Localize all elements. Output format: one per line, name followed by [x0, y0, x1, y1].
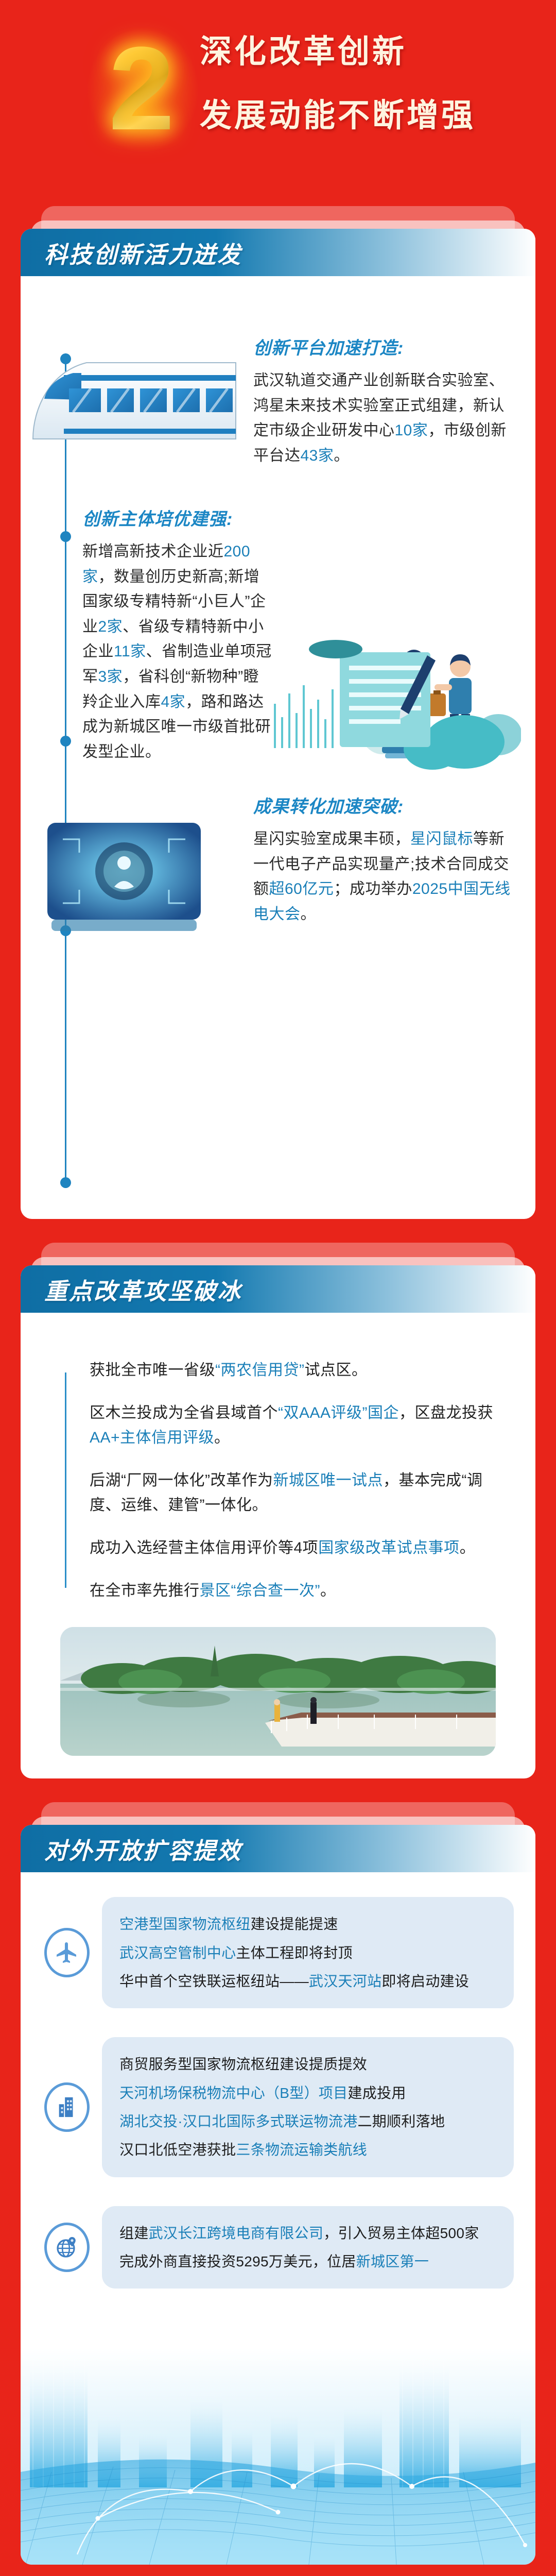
- body-text: 后湖“厂网一体化”改革作为: [90, 1472, 273, 1489]
- card-line: 天河机场保税物流中心（B型）项目建成投用: [119, 2081, 496, 2105]
- body-text: 商贸服务型国家物流枢纽建设提质提效: [119, 2056, 367, 2072]
- section-panel-key-reform: 重点改革攻坚破冰 获批全市唯一省级“两农信用贷”试点区。 区木兰投成为全省县域首…: [21, 1265, 535, 1778]
- card-line: 完成外商直接投资5295万美元，位居新城区第一: [119, 2250, 496, 2273]
- open-up-card: 空港型国家物流枢纽建设提能提速 武汉高空管制中心主体工程即将封顶 华中首个空铁联…: [42, 1897, 514, 2008]
- body-text: 二期顺利落地: [357, 2113, 445, 2129]
- scenic-lake-photo: [60, 1627, 496, 1756]
- hero-banner: 2 深化改革创新 发展动能不断增强: [0, 0, 556, 206]
- list-item-text: 后湖“厂网一体化”改革作为新城区唯一试点，基本完成“调度、运维、建管”一体化。: [90, 1468, 511, 1518]
- highlight-text: 星闪鼠标: [410, 831, 473, 848]
- section-body-key-reform: 获批全市唯一省级“两农信用贷”试点区。 区木兰投成为全省县域首个“双AAA评级”…: [21, 1358, 535, 1778]
- block-body: 新增高新技术企业近200家，数量创历史新高;新增国家级专精特新“小巨人”企业2家…: [82, 539, 273, 765]
- open-up-card: 商贸服务型国家物流枢纽建设提质提效 天河机场保税物流中心（B型）项目建成投用 湖…: [42, 2037, 514, 2177]
- body-text: 华中首个空铁联运枢纽站——: [119, 1973, 309, 1989]
- card-text-box: 组建武汉长江跨境电商有限公司，引入贸易主体超500家 完成外商直接投资5295万…: [102, 2206, 514, 2289]
- block-body: 武汉轨道交通产业创新联合实验室、鸿星未来技术实验室正式组建，新认定市级企业研发中…: [253, 368, 511, 468]
- highlight-text: 11家: [114, 643, 146, 660]
- highlight-text: 三条物流运输类航线: [236, 2142, 367, 2158]
- highlight-text: 43家: [301, 447, 334, 464]
- body-text: 区木兰投成为全省县域首个: [90, 1404, 278, 1421]
- card-text-box: 商贸服务型国家物流枢纽建设提质提效 天河机场保税物流中心（B型）项目建成投用 湖…: [102, 2037, 514, 2177]
- block-transformation: 成果转化加速突破: 星闪实验室成果丰硕，星闪鼠标等新一代电子产品实现量产;技术合…: [253, 792, 511, 927]
- block-heading: 成果转化加速突破:: [253, 792, 511, 818]
- card-line: 汉口北低空港获批三条物流运输类航线: [119, 2138, 496, 2161]
- list-item: 区木兰投成为全省县域首个“双AAA评级”国企，区盘龙投获AA+主体信用评级。: [21, 1401, 535, 1451]
- card-line: 湖北交投·汉口北国际多式联运物流港二期顺利落地: [119, 2110, 496, 2133]
- block-subject: 创新主体培优建强: 新增高新技术企业近200家，数量创历史新高;新增国家级专精特…: [82, 505, 273, 765]
- highlight-text: 武汉长江跨境电商有限公司: [149, 2225, 324, 2241]
- body-text: 建设提能提速: [251, 1916, 338, 1932]
- airplane-glyph: [55, 1940, 79, 1965]
- highlight-text: 10家: [395, 422, 428, 439]
- highlight-text: 新城区唯一试点: [273, 1472, 383, 1489]
- panel-stack-decoration-1: [21, 206, 535, 229]
- card-line: 武汉高空管制中心主体工程即将封顶: [119, 1941, 496, 1964]
- city-skyline-graphic: [21, 2348, 535, 2565]
- highlight-text: 4家: [161, 693, 186, 710]
- hero-title-group: 深化改革创新 发展动能不断增强: [200, 36, 476, 132]
- highlight-text: 新城区第一: [356, 2253, 429, 2269]
- panel-stack-decoration-3: [21, 1802, 535, 1825]
- hero-title-line1: 深化改革创新: [200, 36, 476, 68]
- highlight-text: 2家: [98, 618, 123, 635]
- globe-pin-icon: [44, 2223, 90, 2272]
- body-text: 汉口北低空港获批: [119, 2142, 236, 2158]
- section-body-tech-innovation: 创新平台加速打造: 武汉轨道交通产业创新联合实验室、鸿星未来技术实验室正式组建，…: [21, 276, 535, 1219]
- timeline-dot: [60, 1177, 71, 1188]
- body-text: 。: [301, 906, 317, 923]
- section-panel-open-up: 对外开放扩容提效 空港型国家物流枢纽建设提能提速 武汉高空管制中心主体工程即将封…: [21, 1825, 535, 2565]
- timeline-dot: [60, 736, 71, 747]
- airplane-icon: [44, 1928, 90, 1977]
- body-text: 组建: [119, 2225, 149, 2241]
- card-icon-slot: [42, 1928, 92, 1977]
- list-item: 成功入选经营主体信用评价等4项国家级改革试点事项。: [21, 1536, 535, 1561]
- list-item-text: 区木兰投成为全省县域首个“双AAA评级”国企，区盘龙投获AA+主体信用评级。: [90, 1401, 511, 1451]
- timeline-dot: [60, 531, 71, 542]
- card-text-box: 空港型国家物流枢纽建设提能提速 武汉高空管制中心主体工程即将封顶 华中首个空铁联…: [102, 1897, 514, 2008]
- section-gap: [0, 1219, 556, 1243]
- body-text: 试点区。: [304, 1362, 367, 1379]
- list-item-text: 成功入选经营主体信用评价等4项国家级改革试点事项。: [90, 1536, 511, 1561]
- block-body: 星闪实验室成果丰硕，星闪鼠标等新一代电子产品实现量产;技术合同成交额超60亿元；…: [253, 827, 511, 927]
- section-header-open-up: 对外开放扩容提效: [21, 1825, 535, 1872]
- body-text: ，区盘龙投获: [399, 1404, 493, 1421]
- body-text: 完成外商直接投资5295万美元，位居: [119, 2253, 356, 2269]
- hero-number: 2: [100, 32, 183, 145]
- ai-chip-illustration: [39, 809, 209, 943]
- building-glyph: [55, 2095, 79, 2119]
- list-item: 后湖“厂网一体化”改革作为新城区唯一试点，基本完成“调度、运维、建管”一体化。: [21, 1468, 535, 1518]
- block-platform: 创新平台加速打造: 武汉轨道交通产业创新联合实验室、鸿星未来技术实验室正式组建，…: [253, 334, 511, 468]
- body-text: 获批全市唯一省级: [90, 1362, 215, 1379]
- highlight-text: 武汉高空管制中心: [119, 1945, 236, 1961]
- section-title: 科技创新活力迸发: [21, 236, 242, 269]
- body-text: 在全市率先推行: [90, 1582, 200, 1599]
- highlight-text: 景区“综合查一次”: [200, 1582, 320, 1599]
- city-network-illustration: [21, 2348, 535, 2565]
- section-header-key-reform: 重点改革攻坚破冰: [21, 1265, 535, 1313]
- body-text: 星闪实验室成果丰硕，: [253, 831, 410, 848]
- body-text: 主体工程即将封顶: [236, 1945, 352, 1961]
- section-body-open-up: 空港型国家物流枢纽建设提能提速 武汉高空管制中心主体工程即将封顶 华中首个空铁联…: [21, 1872, 535, 2348]
- card-line: 商贸服务型国家物流枢纽建设提质提效: [119, 2053, 496, 2076]
- reform-bullet-list: 获批全市唯一省级“两农信用贷”试点区。 区木兰投成为全省县域首个“双AAA评级”…: [21, 1358, 535, 1603]
- highlight-text: “两农信用贷”: [215, 1362, 304, 1379]
- body-text: 。: [214, 1429, 230, 1446]
- section-title: 重点改革攻坚破冰: [21, 1273, 242, 1306]
- list-item: 获批全市唯一省级“两农信用贷”试点区。: [21, 1358, 535, 1383]
- body-text: ，引入贸易主体超500家: [323, 2225, 479, 2241]
- body-text: 成功入选经营主体信用评价等4项: [90, 1539, 318, 1556]
- highlight-text: 湖北交投·汉口北国际多式联运物流港: [119, 2113, 357, 2129]
- highlight-text: AA+主体信用评级: [90, 1429, 214, 1446]
- open-up-card: 组建武汉长江跨境电商有限公司，引入贸易主体超500家 完成外商直接投资5295万…: [42, 2206, 514, 2289]
- highlight-text: 天河机场保税物流中心（B型）项目: [119, 2085, 347, 2101]
- panel-stack-decoration-2: [21, 1243, 535, 1265]
- list-item-text: 在全市率先推行景区“综合查一次”。: [90, 1579, 511, 1604]
- timeline-rail: [65, 353, 66, 1188]
- body-text: 即将启动建设: [381, 1973, 469, 1989]
- building-icon: [44, 2082, 90, 2132]
- body-text: 。: [334, 447, 350, 464]
- list-item: 在全市率先推行景区“综合查一次”。: [21, 1579, 535, 1604]
- body-text: 。: [460, 1539, 476, 1556]
- lake-scene-graphic: [60, 1627, 496, 1756]
- block-heading: 创新平台加速打造:: [253, 334, 511, 359]
- hero-title-line2: 发展动能不断增强: [200, 100, 476, 132]
- highlight-text: 国家级改革试点事项: [318, 1539, 460, 1556]
- section-panel-tech-innovation: 科技创新活力迸发: [21, 229, 535, 1219]
- body-text: 。: [320, 1582, 336, 1599]
- card-icon-slot: [42, 2223, 92, 2272]
- list-item-text: 获批全市唯一省级“两农信用贷”试点区。: [90, 1358, 511, 1383]
- highlight-text: 超60亿元: [269, 880, 334, 897]
- contract-signing-illustration: [263, 632, 505, 786]
- highlight-text: 3家: [98, 668, 123, 685]
- card-line: 华中首个空铁联运枢纽站——武汉天河站即将启动建设: [119, 1970, 496, 1993]
- card-line: 组建武汉长江跨境电商有限公司，引入贸易主体超500家: [119, 2222, 496, 2245]
- highlight-text: 武汉天河站: [309, 1973, 382, 1989]
- body-text: ；成功举办: [334, 880, 412, 897]
- body-text: 建成投用: [347, 2085, 406, 2101]
- card-icon-slot: [42, 2082, 92, 2132]
- section-gap: [0, 1778, 556, 1802]
- globe-pin-glyph: [55, 2235, 79, 2260]
- body-text: 新增高新技术企业近: [82, 543, 224, 560]
- card-line: 空港型国家物流枢纽建设提能提速: [119, 1912, 496, 1936]
- section-title: 对外开放扩容提效: [21, 1832, 242, 1866]
- bottom-gap: [0, 2565, 556, 2576]
- highlight-text: “双AAA评级”国企: [278, 1404, 399, 1421]
- highlight-text: 空港型国家物流枢纽: [119, 1916, 251, 1932]
- train-illustration: [26, 337, 237, 448]
- block-heading: 创新主体培优建强:: [82, 505, 273, 530]
- section-header-tech-innovation: 科技创新活力迸发: [21, 229, 535, 276]
